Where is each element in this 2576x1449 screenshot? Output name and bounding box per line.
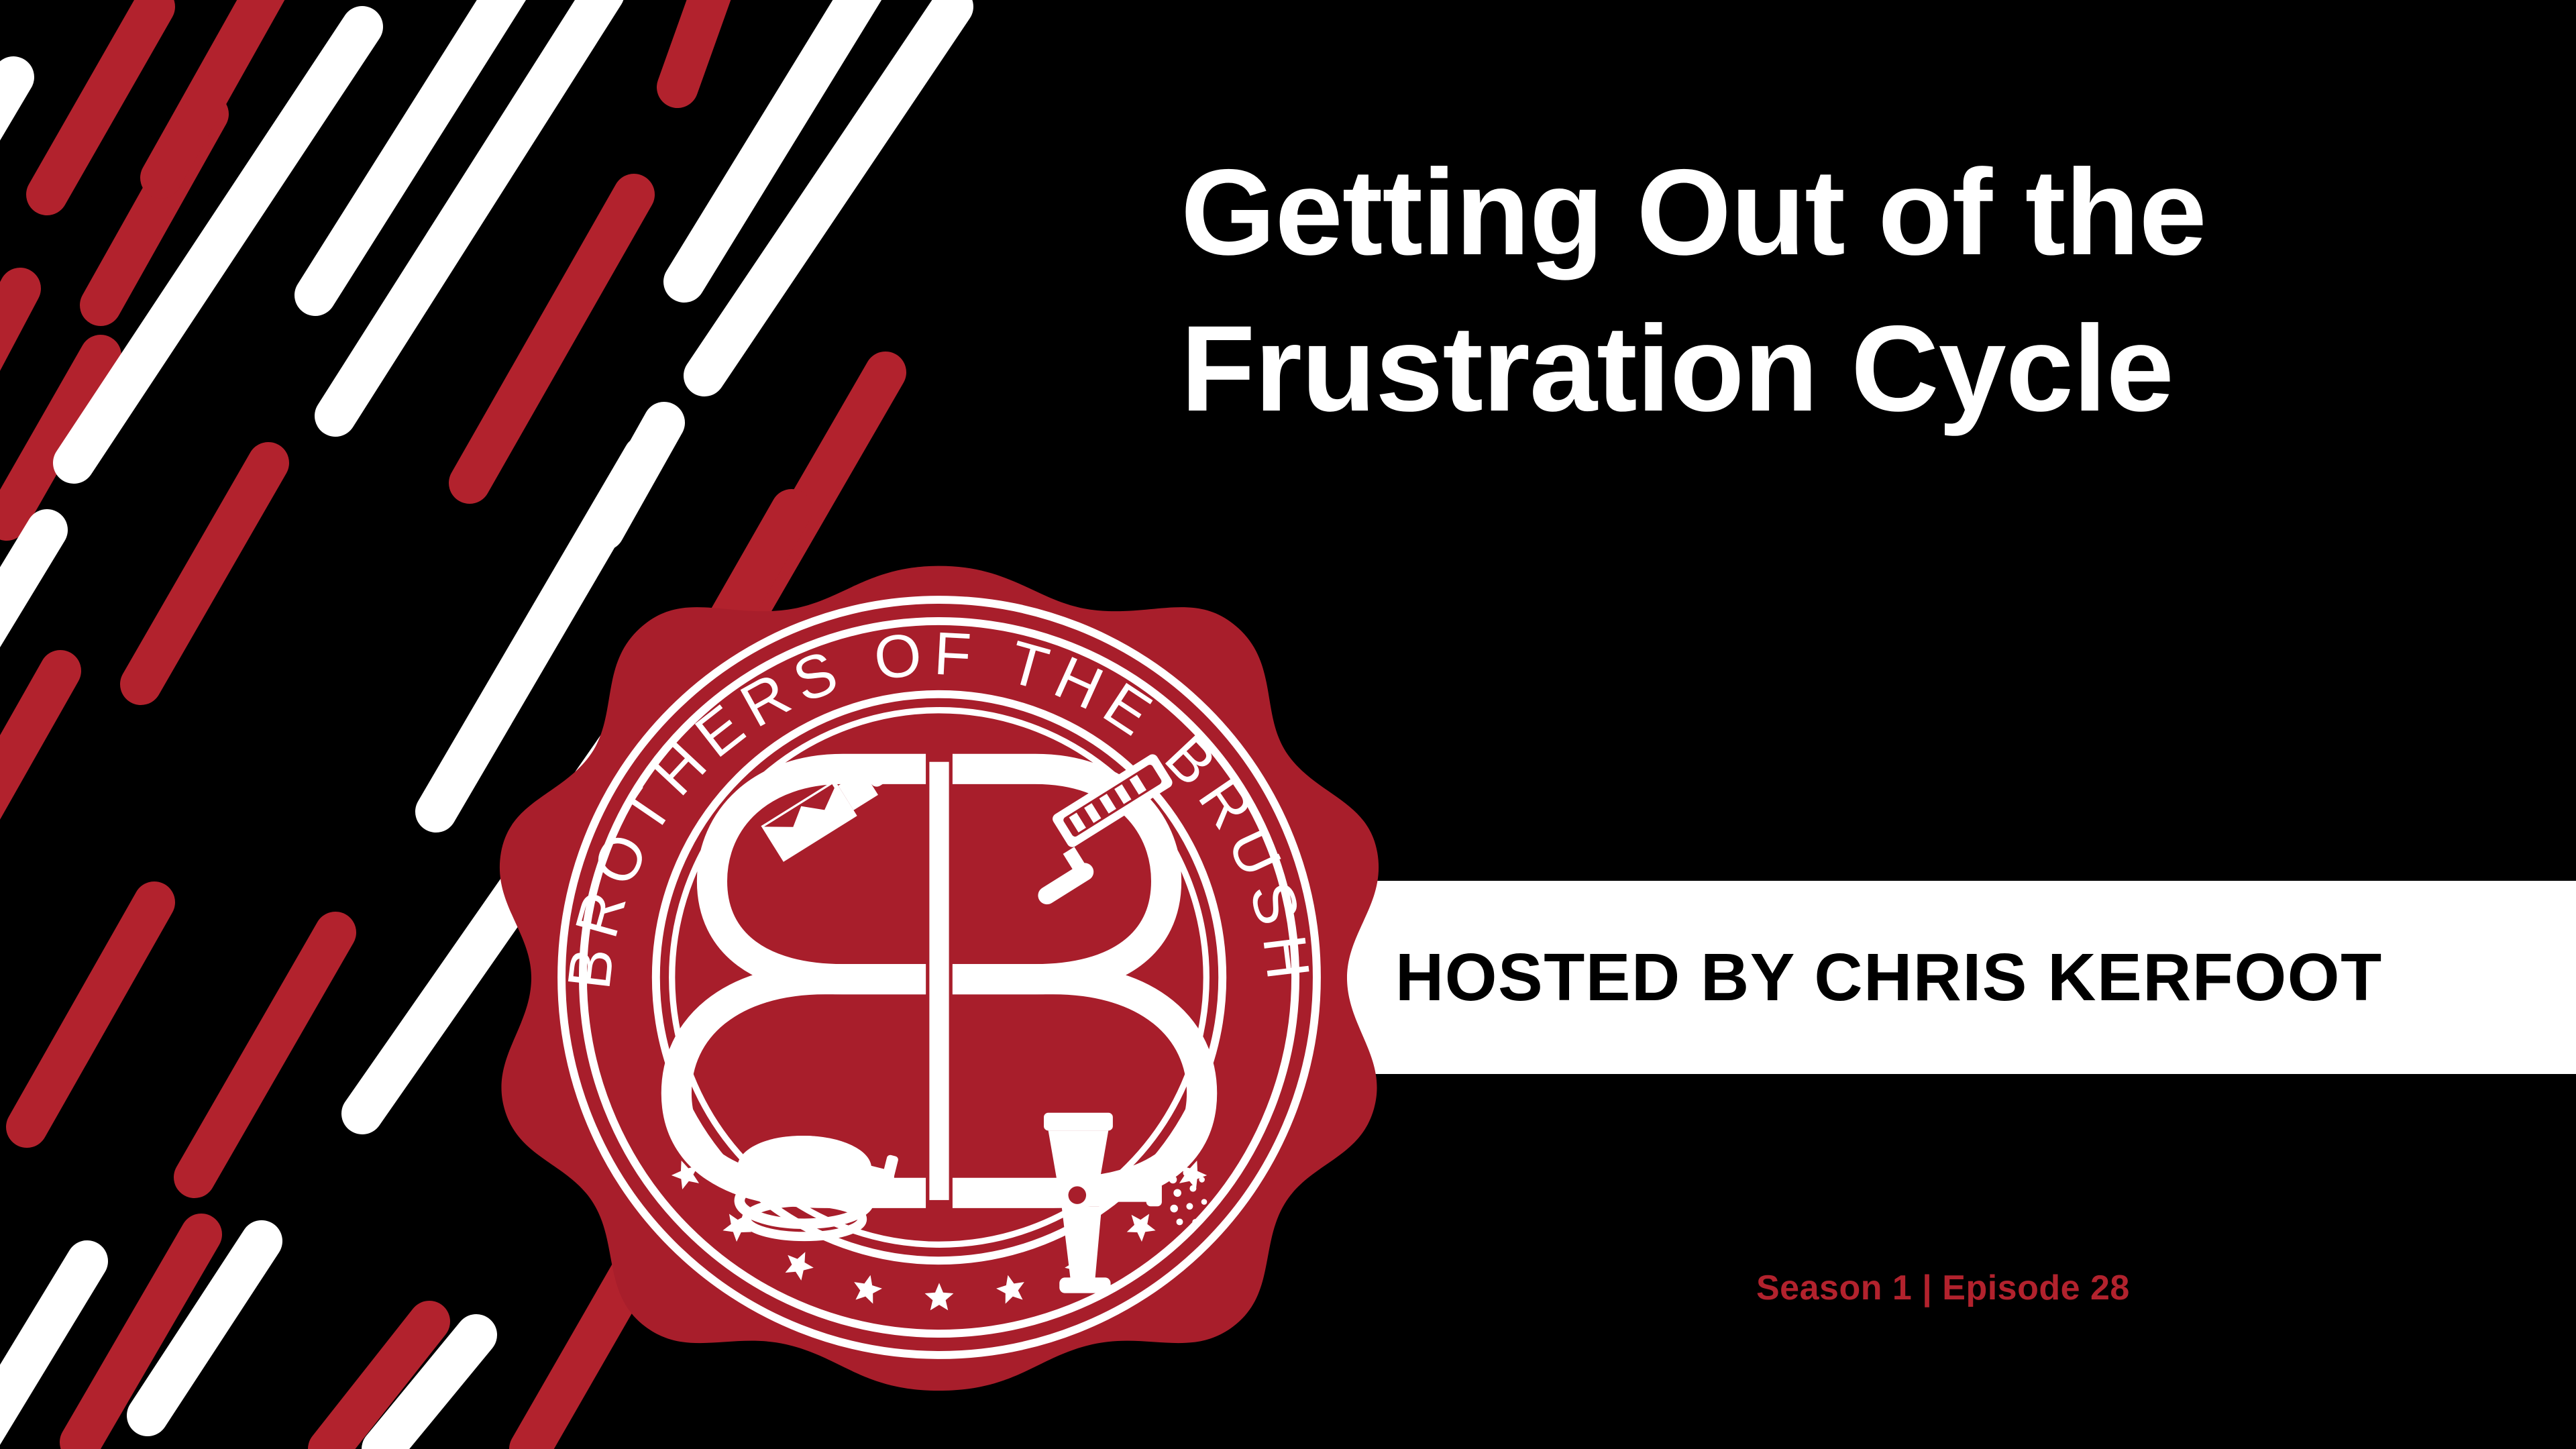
monogram-divider bbox=[929, 762, 949, 1200]
episode-title: Getting Out of the Frustration Cycle bbox=[1181, 134, 2522, 447]
title-line-1: Getting Out of the bbox=[1181, 134, 2522, 290]
season-episode-label: Season 1 | Episode 28 bbox=[1756, 1268, 2130, 1308]
title-line-2: Frustration Cycle bbox=[1181, 290, 2522, 447]
host-banner-label: HOSTED BY CHRIS KERFOOT bbox=[1395, 939, 2383, 1016]
brothers-of-the-brush-badge: BROTHERS OF THE BRUSH bbox=[493, 559, 1385, 1396]
